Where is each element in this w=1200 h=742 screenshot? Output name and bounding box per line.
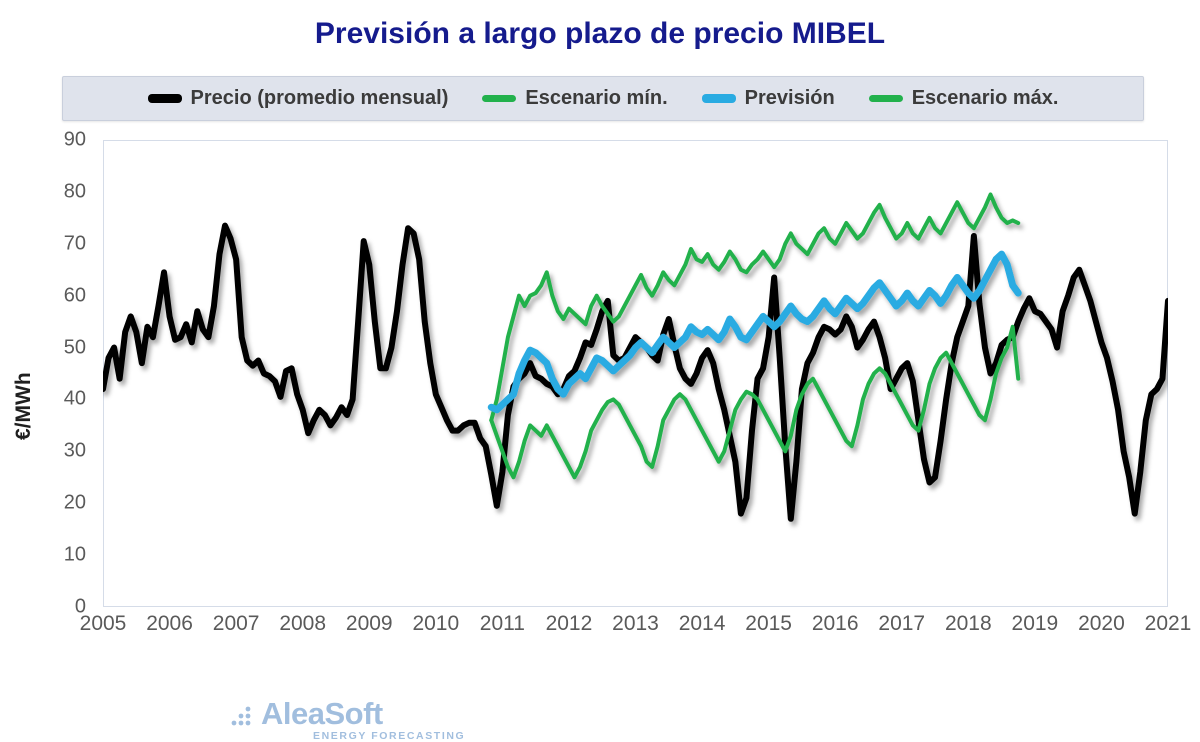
x-tick-label: 2013: [612, 612, 659, 636]
y-tick-label: 20: [64, 492, 86, 515]
logo-name: AleaSoft: [261, 698, 465, 729]
y-tick-label: 90: [64, 129, 86, 152]
plot-area: AleaSoft ENERGY FORECASTING: [103, 140, 1168, 607]
x-tick-label: 2018: [945, 612, 992, 636]
y-tick-label: 30: [64, 440, 86, 463]
x-tick-label: 2012: [546, 612, 593, 636]
legend-swatch-icon: [148, 94, 182, 103]
y-tick-label: 70: [64, 232, 86, 255]
x-tick-label: 2020: [1078, 612, 1125, 636]
x-tick-label: 2006: [146, 612, 193, 636]
legend-item-2[interactable]: Previsión: [702, 87, 835, 110]
y-tick-label: 50: [64, 336, 86, 359]
y-tick-label: 40: [64, 388, 86, 411]
x-tick-label: 2008: [279, 612, 326, 636]
y-axis: €/MWh 0102030405060708090: [0, 140, 96, 607]
legend-item-3[interactable]: Escenario máx.: [869, 87, 1059, 110]
legend-label: Escenario máx.: [912, 87, 1059, 110]
x-tick-label: 2014: [679, 612, 726, 636]
x-tick-label: 2009: [346, 612, 393, 636]
x-tick-label: 2015: [745, 612, 792, 636]
y-tick-label: 60: [64, 284, 86, 307]
legend-label: Escenario mín.: [525, 87, 667, 110]
legend-swatch-icon: [869, 95, 903, 102]
x-tick-label: 2016: [812, 612, 859, 636]
series-canvas: [103, 140, 1168, 607]
x-tick-label: 2011: [480, 612, 525, 636]
aleasoft-logo: AleaSoft ENERGY FORECASTING: [231, 698, 465, 742]
chart-root: Previsión a largo plazo de precio MIBEL …: [0, 0, 1200, 659]
chart-title: Previsión a largo plazo de precio MIBEL: [0, 16, 1200, 52]
x-tick-label: 2005: [80, 612, 127, 636]
x-tick-label: 2019: [1012, 612, 1059, 636]
y-axis-title: €/MWh: [12, 372, 36, 440]
y-tick-label: 80: [64, 180, 86, 203]
legend-label: Precio (promedio mensual): [191, 87, 449, 110]
legend-item-1[interactable]: Escenario mín.: [482, 87, 667, 110]
legend-swatch-icon: [702, 94, 736, 103]
legend-swatch-icon: [482, 95, 516, 102]
chart-legend: Precio (promedio mensual)Escenario mín.P…: [62, 76, 1144, 121]
legend-item-0[interactable]: Precio (promedio mensual): [148, 87, 449, 110]
x-axis: 2005200620072008200920102011201220132014…: [103, 612, 1168, 652]
x-tick-label: 2021: [1145, 612, 1192, 636]
x-tick-label: 2017: [878, 612, 925, 636]
logo-dots-icon: [231, 706, 257, 728]
logo-tagline: ENERGY FORECASTING: [313, 731, 465, 742]
x-tick-label: 2010: [412, 612, 459, 636]
legend-label: Previsión: [745, 87, 835, 110]
y-tick-label: 10: [64, 544, 86, 567]
x-tick-label: 2007: [213, 612, 260, 636]
